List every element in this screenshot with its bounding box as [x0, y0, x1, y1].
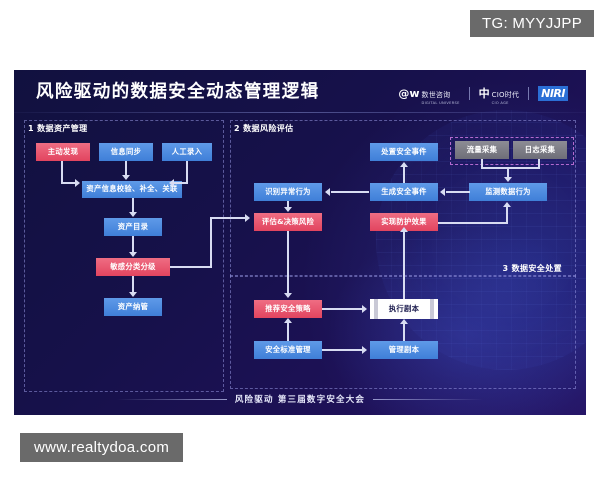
arrowhead-execute-to-protection: [400, 227, 408, 232]
arrowhead-verify-to-catalog: [129, 212, 137, 217]
node-manual-entry[interactable]: 人工录入: [162, 143, 212, 161]
node-asset-catalog[interactable]: 资产目录: [104, 218, 162, 236]
arrow-classify-to-govern: [132, 276, 134, 292]
header-divider: [14, 112, 586, 113]
shushi-sublabel: DIGITAL UNIVERSE: [422, 101, 460, 105]
arrow-discovery-to-verify-h: [61, 182, 76, 184]
cio-label: CIO时代: [492, 91, 519, 99]
arrow-verify-to-catalog: [132, 198, 134, 212]
arrow-sync-to-verify: [125, 161, 127, 176]
shushi-label: 数世咨询: [422, 91, 451, 99]
arrow-standard-to-manage: [322, 349, 363, 351]
top-watermark: TG: MYYJJPP: [470, 10, 594, 37]
logo-cio: 中 CIO时代 CIO AGE: [479, 82, 519, 105]
arrow-monitor-to-generate: [446, 191, 470, 193]
shushi-mark-icon: @w: [398, 88, 419, 99]
node-recommend-policy[interactable]: 推荐安全策略: [254, 300, 322, 318]
node-asset-govern[interactable]: 资产纳管: [104, 298, 162, 316]
arrow-classify-to-risk-v: [210, 217, 212, 268]
panel-label-risk-assessment: 2 数据风险评估: [234, 123, 294, 134]
niri-logo-icon: NIRI: [538, 86, 568, 101]
arrowhead-assess-to-recommend: [284, 293, 292, 298]
node-manage-playbook[interactable]: 管理剧本: [370, 341, 438, 359]
arrowhead-generate-to-handle: [400, 162, 408, 167]
arrowhead-discovery-to-verify: [75, 179, 80, 187]
node-identify-abnormal[interactable]: 识别异常行为: [254, 183, 322, 201]
node-active-discovery[interactable]: 主动发现: [36, 143, 90, 161]
arrowhead-standard-to-manage: [362, 346, 367, 354]
arrow-manage-to-execute: [403, 324, 405, 341]
slide-title: 风险驱动的数据安全动态管理逻辑: [36, 78, 320, 103]
arrowhead-sync-to-verify: [122, 175, 130, 180]
node-sensitive-classify[interactable]: 敏感分类分级: [96, 258, 170, 276]
arrow-protection-to-monitor-h: [438, 222, 508, 224]
arrowhead-standard-to-recommend: [284, 318, 292, 323]
logo-shushi: @w 数世咨询 DIGITAL UNIVERSE: [398, 82, 459, 105]
panel-label-asset-management: 1 数据资产管理: [28, 123, 88, 134]
cio-mark-icon: 中: [479, 88, 490, 99]
footer-rule-right: [373, 399, 483, 400]
bottom-watermark: www.realtydoa.com: [20, 433, 183, 462]
node-generate-security-event[interactable]: 生成安全事件: [370, 183, 438, 201]
node-execute-playbook[interactable]: 执行剧本: [370, 299, 438, 319]
arrowhead-catalog-to-classify: [129, 252, 137, 257]
node-assess-decide-risk[interactable]: 评估&决策风险: [254, 213, 322, 231]
arrowhead-join-to-monitor: [504, 177, 512, 182]
arrowhead-monitor-to-generate: [440, 188, 445, 196]
arrow-manual-to-verify-h: [173, 182, 188, 184]
logo-divider-1: [469, 87, 470, 100]
footer-rule-left: [117, 399, 227, 400]
arrow-catalog-to-classify: [132, 236, 134, 252]
node-monitor-data-behavior[interactable]: 监测数据行为: [469, 183, 547, 201]
arrowhead-generate-to-identify: [325, 188, 330, 196]
arrow-recommend-to-execute: [322, 308, 363, 310]
node-log-collection[interactable]: 日志采集: [513, 141, 567, 159]
panel-label-security-disposal: 3 数据安全处置: [502, 263, 562, 274]
arrowhead-identify-to-assess: [284, 207, 292, 212]
arrowhead-protection-to-monitor: [503, 202, 511, 207]
cio-sublabel: CIO AGE: [492, 101, 519, 105]
arrow-protection-to-monitor-v: [506, 207, 508, 224]
arrow-log-down: [538, 159, 540, 168]
footer-text: 风险驱动 第三届数字安全大会: [235, 393, 365, 405]
arrow-manual-to-verify-v: [186, 161, 188, 182]
arrowhead-manual-to-verify: [169, 179, 174, 187]
node-security-standard-mgmt[interactable]: 安全标准管理: [254, 341, 322, 359]
node-handle-security-event[interactable]: 处置安全事件: [370, 143, 438, 161]
arrowhead-classify-to-govern: [129, 292, 137, 297]
arrow-standard-to-recommend: [287, 322, 289, 341]
slide-footer: 风险驱动 第三届数字安全大会: [14, 393, 586, 405]
arrow-generate-to-identify: [331, 191, 369, 193]
arrowhead-manage-to-execute: [400, 319, 408, 324]
arrow-execute-to-protection: [403, 231, 405, 299]
arrow-assess-to-recommend: [287, 231, 289, 293]
node-asset-verify[interactable]: 资产信息校验、补全、关联: [82, 181, 182, 198]
arrow-discovery-to-verify-v: [61, 161, 63, 182]
node-info-sync[interactable]: 信息同步: [99, 143, 153, 161]
screenshot-root: TG: MYYJJPP 风险驱动的数据安全动态管理逻辑 @w 数世咨询 DIGI…: [0, 0, 600, 480]
arrow-classify-to-risk-h1: [170, 266, 212, 268]
presentation-slide: 风险驱动的数据安全动态管理逻辑 @w 数世咨询 DIGITAL UNIVERSE…: [14, 70, 586, 415]
arrow-generate-to-handle: [403, 167, 405, 183]
slide-header: 风险驱动的数据安全动态管理逻辑 @w 数世咨询 DIGITAL UNIVERSE…: [14, 70, 586, 112]
logo-bar: @w 数世咨询 DIGITAL UNIVERSE 中 CIO时代 CIO AGE…: [398, 82, 568, 105]
logo-divider-2: [528, 87, 529, 100]
arrow-collectors-join: [481, 167, 540, 169]
node-traffic-collection[interactable]: 流量采集: [455, 141, 509, 159]
arrowhead-recommend-to-execute: [362, 305, 367, 313]
